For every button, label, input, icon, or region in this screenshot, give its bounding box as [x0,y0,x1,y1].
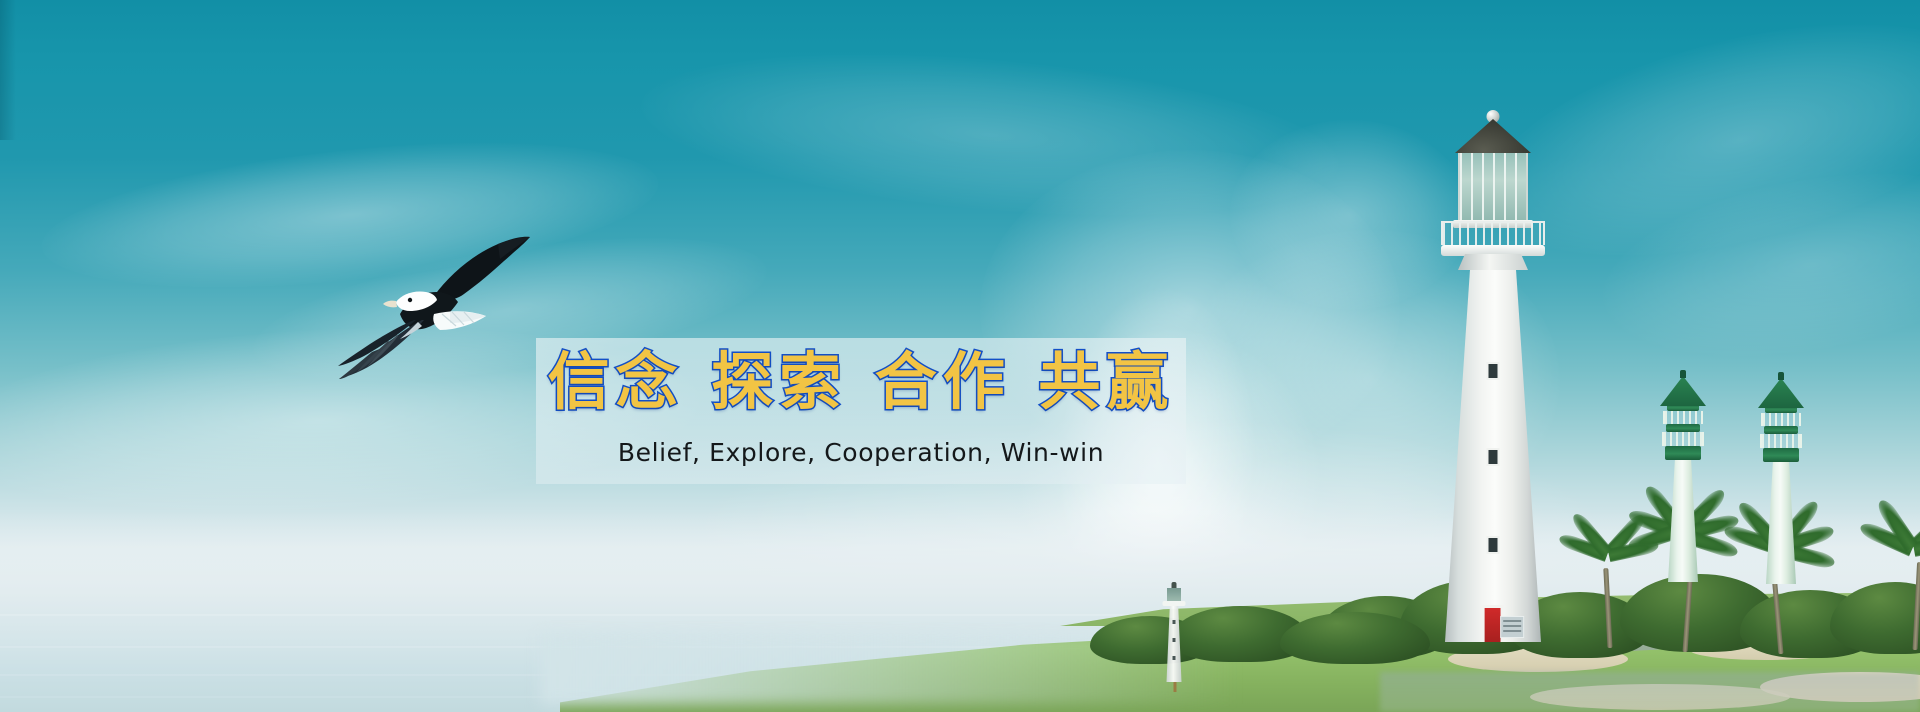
sky-edge-shadow [0,0,16,140]
small-lighthouse-icon [1157,586,1191,682]
lighthouse-collar [1458,254,1528,270]
main-lighthouse-icon [1428,172,1558,642]
eagle-icon [338,228,534,394]
twin-tower-left [1652,392,1714,582]
twin-tower-right [1750,394,1812,584]
hero-banner-scene: 信念 探索 合作 共赢 Belief, Explore, Cooperation… [0,0,1920,712]
palm-tree [1560,538,1660,648]
lighthouse-lantern-room [1458,153,1528,221]
subhead-english: Belief, Explore, Cooperation, Win-win [536,438,1186,467]
lighthouse-gallery-railing [1441,221,1545,245]
lighthouse-window [1487,536,1500,554]
water-reflection [1380,672,1920,712]
lighthouse-window [1487,448,1500,466]
headline-chinese: 信念 探索 合作 共赢 [536,344,1186,420]
shrub-band [1090,604,1430,664]
lighthouse-window [1487,362,1500,380]
lighthouse-plaque [1500,616,1524,638]
text-banner-panel: 信念 探索 合作 共赢 Belief, Explore, Cooperation… [536,338,1186,484]
palm-tree [1860,530,1920,650]
